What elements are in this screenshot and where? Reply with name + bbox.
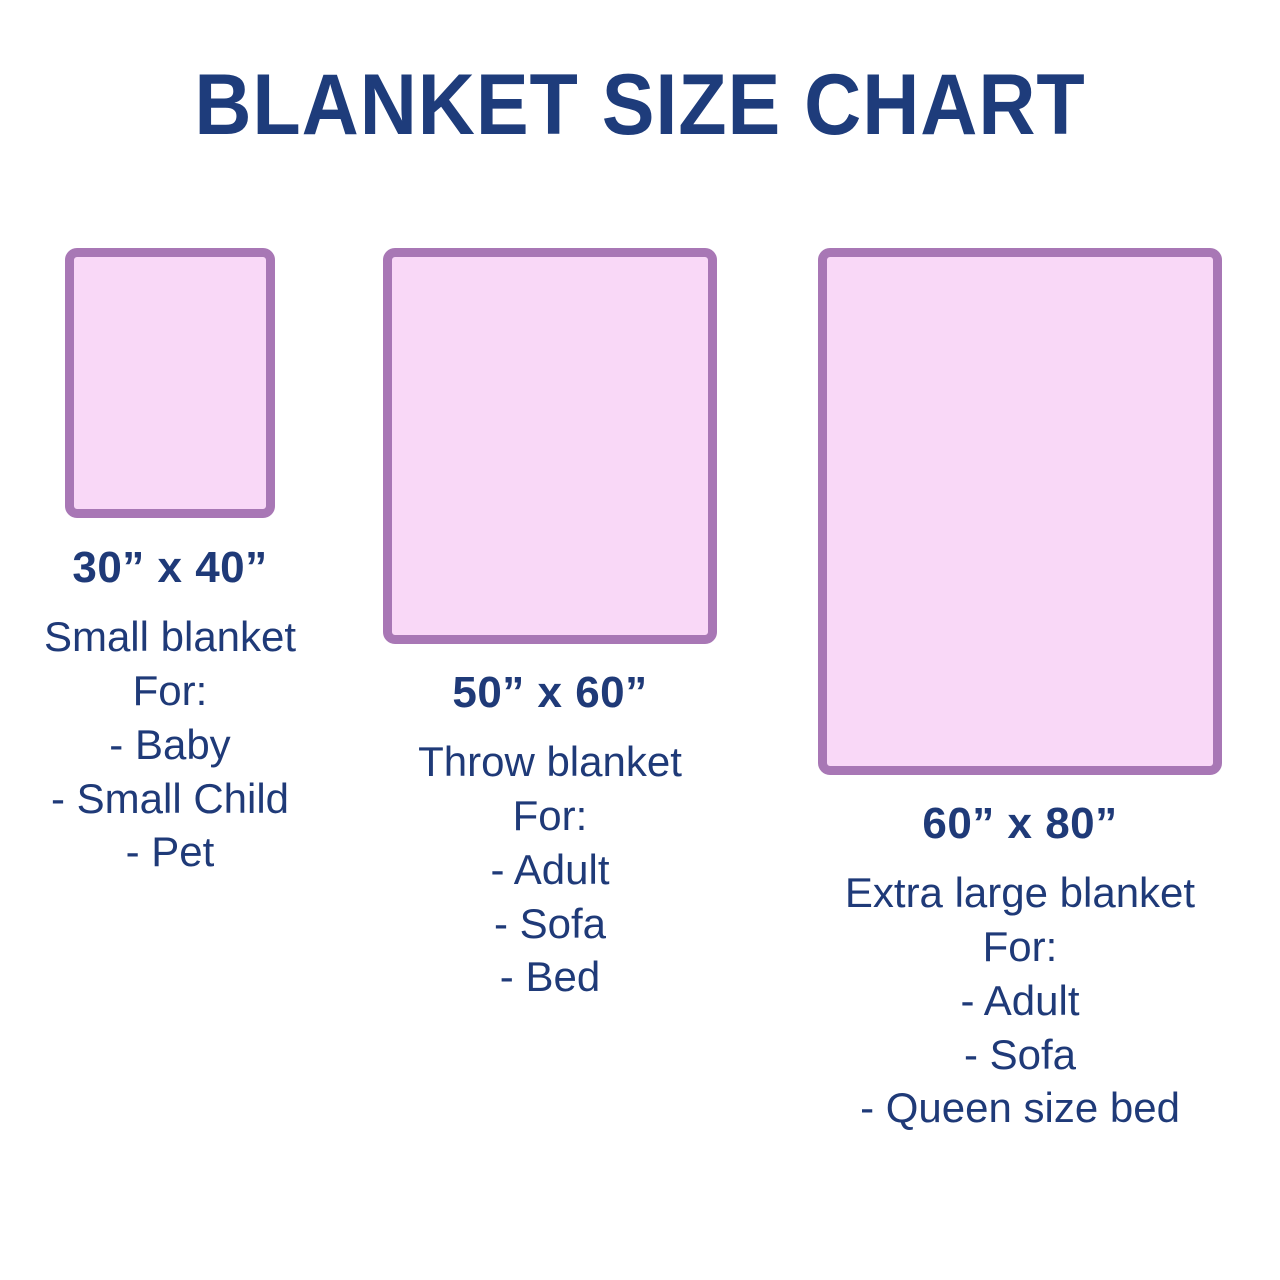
size-column-extra-large: 60” x 80” Extra large blanket For: - Adu…	[760, 0, 1280, 1280]
size-column-throw: 50” x 60” Throw blanket For: - Adult - S…	[350, 0, 750, 1280]
size-column-small: 30” x 40” Small blanket For: - Baby - Sm…	[0, 0, 340, 1280]
blanket-kind-small: Small blanket	[0, 610, 340, 664]
use-item-small-2: - Small Child	[0, 772, 340, 826]
use-item-small-1: - Baby	[0, 718, 340, 772]
use-item-extra-large-1: - Adult	[760, 974, 1280, 1028]
for-label-extra-large: For:	[760, 920, 1280, 974]
size-info-throw: 50” x 60” Throw blanket For: - Adult - S…	[350, 665, 750, 1004]
size-columns: 30” x 40” Small blanket For: - Baby - Sm…	[0, 0, 1280, 1280]
swatch-container-throw	[350, 248, 750, 644]
use-item-small-3: - Pet	[0, 825, 340, 879]
blanket-kind-throw: Throw blanket	[350, 735, 750, 789]
blanket-swatch-extra-large	[818, 248, 1222, 775]
swatch-container-extra-large	[760, 248, 1280, 775]
use-item-extra-large-2: - Sofa	[760, 1028, 1280, 1082]
size-info-small: 30” x 40” Small blanket For: - Baby - Sm…	[0, 540, 340, 879]
blanket-kind-extra-large: Extra large blanket	[760, 866, 1280, 920]
dimension-label-throw: 50” x 60”	[350, 665, 750, 721]
use-item-extra-large-3: - Queen size bed	[760, 1081, 1280, 1135]
blanket-swatch-throw	[383, 248, 717, 644]
size-info-extra-large: 60” x 80” Extra large blanket For: - Adu…	[760, 796, 1280, 1135]
dimension-label-extra-large: 60” x 80”	[760, 796, 1280, 852]
dimension-label-small: 30” x 40”	[0, 540, 340, 596]
use-item-throw-2: - Sofa	[350, 897, 750, 951]
for-label-small: For:	[0, 664, 340, 718]
blanket-swatch-small	[65, 248, 275, 518]
swatch-container-small	[0, 248, 340, 518]
use-item-throw-3: - Bed	[350, 950, 750, 1004]
use-item-throw-1: - Adult	[350, 843, 750, 897]
for-label-throw: For:	[350, 789, 750, 843]
